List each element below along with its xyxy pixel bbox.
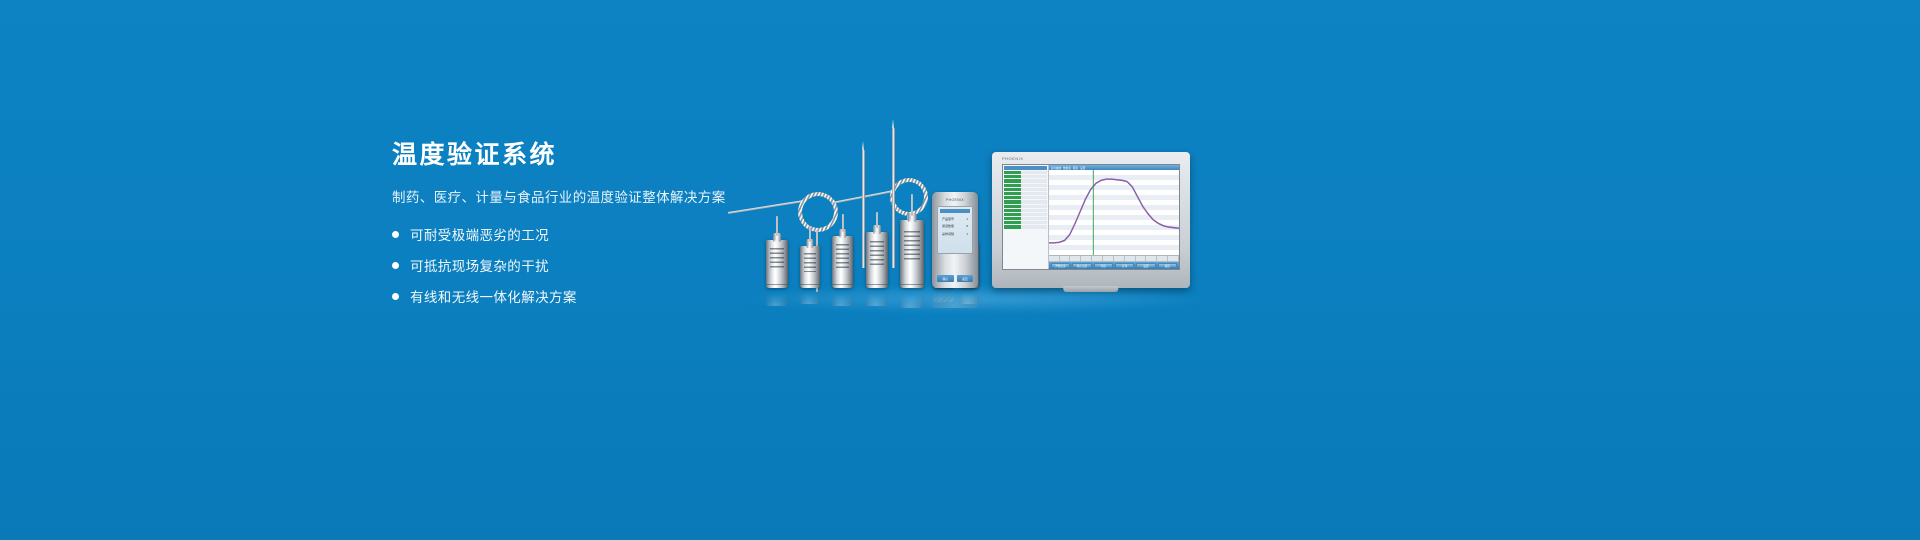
handheld-row-value: 1 — [966, 217, 968, 221]
logger-reflection — [766, 288, 788, 306]
channel-row[interactable] — [1004, 192, 1047, 195]
axis-tick — [1136, 256, 1147, 261]
logger-rim — [832, 284, 853, 286]
probe-cable — [832, 189, 899, 204]
axis-tick — [1070, 256, 1081, 261]
handheld-key-back[interactable]: 返回 — [957, 275, 974, 282]
logger-reflection — [866, 288, 888, 306]
handheld-screen[interactable]: 产品型号 1 通道数量 8 采样间隔 1 — [937, 206, 973, 254]
hero-subtitle: 制药、医疗、计量与食品行业的温度验证整体解决方案 — [392, 186, 772, 206]
channel-row[interactable] — [1004, 225, 1047, 228]
logger-rim — [800, 284, 820, 286]
list-item: 可耐受极端恶劣的工况 — [392, 224, 772, 244]
handheld-row: 产品型号 1 — [940, 217, 970, 221]
logger-stem — [776, 216, 778, 236]
channel-row[interactable] — [1004, 188, 1047, 191]
list-item: 有线和无线一体化解决方案 — [392, 286, 772, 306]
tab-data-table[interactable]: 数据表 — [1063, 166, 1071, 170]
bullet-label: 有线和无线一体化解决方案 — [410, 286, 577, 306]
monitor-screen[interactable]: 实时曲线 数据表 报表 设置 — [1002, 164, 1180, 270]
logger-rim — [766, 284, 788, 286]
channel-row[interactable] — [1004, 200, 1047, 203]
validation-monitor[interactable]: PHOENIX — [992, 152, 1190, 288]
probe-cable — [728, 200, 805, 214]
handheld-brand: PHOENIX — [932, 198, 978, 202]
data-logger-2 — [800, 246, 820, 288]
page-title: 温度验证系统 — [392, 140, 772, 170]
tab-report[interactable]: 报表 — [1073, 166, 1078, 170]
logger-rim — [866, 284, 888, 286]
list-item: 可抵抗现场复杂的干扰 — [392, 255, 772, 275]
channel-row[interactable] — [1004, 209, 1047, 212]
handheld-row-label: 采样间隔 — [942, 232, 954, 236]
monitor-main-panel: 实时曲线 数据表 报表 设置 — [1049, 165, 1179, 269]
logger-label — [804, 253, 817, 272]
handheld-reader[interactable]: PHOENIX 产品型号 1 通道数量 8 采样间隔 1 确认 返回 — [932, 192, 978, 288]
axis-tick — [1081, 256, 1092, 261]
logger-reflection — [832, 288, 853, 306]
logger-stem — [809, 226, 811, 242]
bullet-label: 可抵抗现场复杂的干扰 — [410, 255, 549, 275]
feature-bullet-list: 可耐受极端恶劣的工况 可抵抗现场复杂的干扰 有线和无线一体化解决方案 — [392, 224, 772, 306]
settings-button[interactable]: 设置 — [1136, 263, 1155, 268]
handheld-row-value: 8 — [966, 224, 968, 228]
channel-row[interactable] — [1004, 175, 1047, 178]
channel-row[interactable] — [1004, 179, 1047, 182]
channel-sidebar[interactable] — [1003, 165, 1049, 269]
axis-tick — [1092, 256, 1103, 261]
data-logger-4 — [866, 232, 888, 288]
logger-label — [870, 241, 884, 267]
start-record-button[interactable]: 开始记录 — [1051, 263, 1070, 268]
axis-tick — [1146, 256, 1157, 261]
product-photo-group: PHOENIX 产品型号 1 通道数量 8 采样间隔 1 确认 返回 — [720, 120, 1220, 320]
data-logger-1 — [766, 240, 788, 288]
bullet-label: 可耐受极端恶劣的工况 — [410, 224, 549, 244]
logger-rim — [900, 284, 924, 286]
hero-text-block: 温度验证系统 制药、医疗、计量与食品行业的温度验证整体解决方案 可耐受极端恶劣的… — [392, 140, 772, 317]
bullet-dot-icon — [392, 293, 399, 300]
channel-row[interactable] — [1004, 213, 1047, 216]
temperature-chart — [1049, 170, 1179, 256]
tab-realtime-curve[interactable]: 实时曲线 — [1051, 166, 1061, 170]
hero-banner: 温度验证系统 制药、医疗、计量与食品行业的温度验证整体解决方案 可耐受极端恶劣的… — [0, 0, 1920, 540]
channel-row[interactable] — [1004, 205, 1047, 208]
axis-tick — [1114, 256, 1125, 261]
axis-tick — [1125, 256, 1136, 261]
channel-row[interactable] — [1004, 171, 1047, 174]
logger-reflection — [800, 288, 820, 304]
handheld-row-label: 通道数量 — [942, 224, 954, 228]
exit-button[interactable]: 退出 — [1158, 263, 1177, 268]
data-logger-3 — [832, 236, 853, 288]
channel-sidebar-header — [1004, 166, 1047, 170]
logger-label — [770, 248, 784, 270]
handheld-row: 通道数量 8 — [940, 224, 970, 228]
needle-probe-2 — [892, 128, 895, 268]
bullet-dot-icon — [392, 262, 399, 269]
logger-label — [836, 244, 849, 268]
handheld-screen-titlebar — [940, 209, 970, 213]
axis-tick — [1060, 256, 1071, 261]
handheld-row-label: 产品型号 — [942, 217, 954, 221]
logger-stem — [876, 212, 878, 228]
channel-row[interactable] — [1004, 221, 1047, 224]
channel-row[interactable] — [1004, 196, 1047, 199]
data-logger-5 — [900, 220, 924, 288]
chart-svg — [1049, 170, 1179, 255]
needle-probe-1 — [862, 150, 865, 268]
tab-settings[interactable]: 设置 — [1080, 166, 1085, 170]
handheld-key-confirm[interactable]: 确认 — [937, 275, 954, 282]
handheld-reflection — [932, 288, 978, 308]
channel-row[interactable] — [1004, 217, 1047, 220]
handheld-row: 采样间隔 1 — [940, 232, 970, 236]
stop-record-button[interactable]: 停止记录 — [1072, 263, 1091, 268]
logger-stem — [911, 194, 913, 216]
chart-series-temperature — [1049, 179, 1179, 243]
logger-reflection — [900, 288, 924, 308]
print-button[interactable]: 打印 — [1115, 263, 1134, 268]
axis-tick — [1168, 256, 1179, 261]
logger-stem — [842, 214, 844, 232]
axis-tick — [1103, 256, 1114, 261]
monitor-brand: PHOENIX — [1002, 156, 1024, 161]
bullet-dot-icon — [392, 231, 399, 238]
monitor-button-bar[interactable]: 开始记录 停止记录 导出 打印 设置 退出 — [1049, 262, 1179, 269]
monitor-stand — [1063, 286, 1118, 292]
probe-coil-icon — [890, 178, 928, 216]
handheld-row-value: 1 — [966, 232, 968, 236]
export-button[interactable]: 导出 — [1094, 263, 1113, 268]
handheld-keypad[interactable]: 确认 返回 — [937, 275, 973, 282]
axis-tick — [1157, 256, 1168, 261]
axis-tick — [1049, 256, 1060, 261]
channel-row[interactable] — [1004, 184, 1047, 187]
logger-label — [904, 231, 919, 262]
